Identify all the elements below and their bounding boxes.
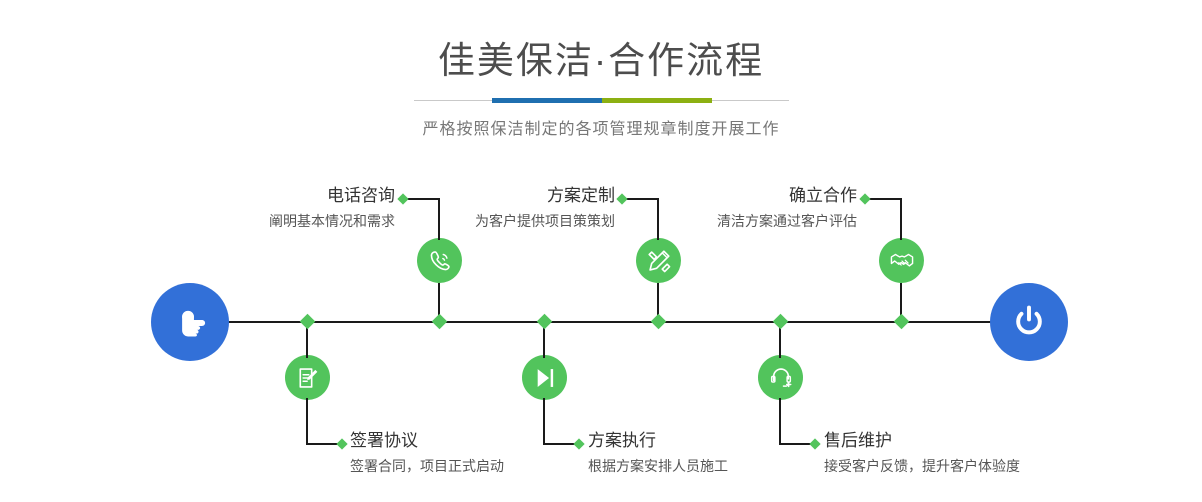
- step-diamond-3: [651, 314, 667, 330]
- timeline-end-node[interactable]: [990, 283, 1068, 361]
- step-diamond-6: [773, 314, 789, 330]
- step-title-4: 方案执行: [588, 431, 848, 451]
- step-connector-diamond-2: [336, 438, 347, 449]
- step-connector-stem-6: [779, 398, 781, 444]
- step-desc-6: 接受客户反馈，提升客户体验度: [824, 451, 1104, 475]
- step-label-3: 方案定制 为客户提供项目策策划: [370, 186, 615, 231]
- step-diamond-4: [537, 314, 553, 330]
- document-edit-icon: [295, 365, 321, 391]
- step-icon-2[interactable]: [285, 355, 330, 400]
- play-skip-icon: [532, 365, 558, 391]
- step-label-6: 售后维护 接受客户反馈，提升客户体验度: [824, 431, 1104, 476]
- step-connector-bar-4: [543, 443, 577, 445]
- step-title-6: 售后维护: [824, 431, 1104, 451]
- step-label-1: 电话咨询 阐明基本情况和需求: [150, 186, 395, 231]
- step-connector-stem-5: [900, 198, 902, 240]
- step-desc-1: 阐明基本情况和需求: [150, 206, 395, 230]
- step-icon-6[interactable]: [758, 355, 803, 400]
- step-connector-diamond-5: [859, 193, 870, 204]
- timeline-start-node[interactable]: [151, 283, 229, 361]
- step-title-2: 签署协议: [350, 431, 610, 451]
- step-title-1: 电话咨询: [150, 186, 395, 206]
- pointing-hand-icon: [169, 301, 211, 343]
- step-connector-stem-4: [543, 398, 545, 444]
- pencil-ruler-icon: [646, 248, 672, 274]
- process-flow-infographic: 佳美保洁·合作流程 严格按照保洁制定的各项管理规章制度开展工作: [0, 0, 1202, 502]
- support-agent-add-icon: [768, 365, 794, 391]
- timeline: 电话咨询 阐明基本情况和需求 签署协议 签署合同，项目正式启动: [0, 0, 1202, 502]
- step-label-5: 确立合作 清洁方案通过客户评估: [612, 186, 857, 231]
- step-connector-bar-6: [779, 443, 813, 445]
- step-icon-5[interactable]: [879, 238, 924, 283]
- step-diamond-1: [432, 314, 448, 330]
- step-icon-4[interactable]: [522, 355, 567, 400]
- step-icon-1[interactable]: [417, 238, 462, 283]
- handshake-icon: [889, 248, 915, 274]
- power-icon: [1008, 301, 1050, 343]
- step-connector-bar-5: [867, 198, 901, 200]
- step-connector-bar-2: [306, 443, 340, 445]
- step-desc-2: 签署合同，项目正式启动: [350, 451, 610, 475]
- step-title-5: 确立合作: [612, 186, 857, 206]
- step-diamond-2: [300, 314, 316, 330]
- step-connector-stem-2: [306, 398, 308, 444]
- step-label-2: 签署协议 签署合同，项目正式启动: [350, 431, 610, 476]
- step-label-4: 方案执行 根据方案安排人员施工: [588, 431, 848, 476]
- step-desc-5: 清洁方案通过客户评估: [612, 206, 857, 230]
- step-title-3: 方案定制: [370, 186, 615, 206]
- step-desc-4: 根据方案安排人员施工: [588, 451, 848, 475]
- phone-call-icon: [427, 248, 453, 274]
- step-desc-3: 为客户提供项目策策划: [370, 206, 615, 230]
- step-icon-3[interactable]: [636, 238, 681, 283]
- step-diamond-5: [894, 314, 910, 330]
